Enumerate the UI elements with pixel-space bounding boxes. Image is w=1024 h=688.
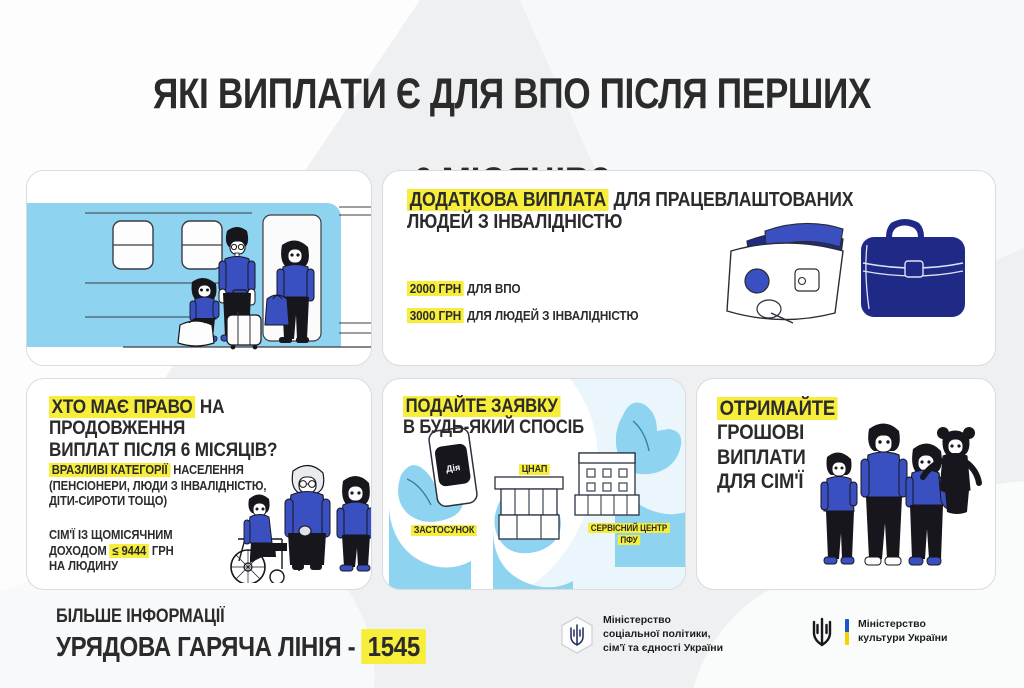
apply-option-label-app: ЗАСТОСУНОК bbox=[411, 525, 477, 538]
receive-heading: ОТРИМАЙТЕ ГРОШОВІ ВИПЛАТИ ДЛЯ СІМ'Ї bbox=[717, 397, 893, 494]
apply-option-label-pfu: СЕРВІСНИЙ ЦЕНТР ПФУ bbox=[588, 522, 670, 546]
duffel-bag bbox=[178, 319, 214, 346]
vulnerable-categories-highlight: ВРАЗЛИВІ КАТЕГОРІЇ bbox=[49, 463, 170, 477]
page-title-line1: ЯКІ ВИПЛАТИ Є ДЛЯ ВПО ПІСЛЯ ПЕРШИХ bbox=[92, 72, 932, 116]
trident-hexagon-icon bbox=[560, 616, 594, 654]
wallet-icon bbox=[727, 223, 843, 323]
footer-hotline-number: 1545 bbox=[362, 629, 426, 664]
flag-divider-icon bbox=[845, 619, 849, 645]
amount-row-disability: 3000 ГРН ДЛЯ ЛЮДЕЙ З ІНВАЛІДНІСТЮ bbox=[407, 308, 638, 324]
mku-line1: Міністерство bbox=[858, 618, 947, 632]
card-train-illustration bbox=[26, 170, 372, 366]
footer-more-info: БІЛЬШЕ ІНФОРМАЦІЇ bbox=[56, 606, 426, 628]
amount-label-disability: ДЛЯ ЛЮДЕЙ З ІНВАЛІДНІСТЮ bbox=[464, 308, 639, 323]
amount-value-disability: 3000 ГРН bbox=[407, 308, 464, 323]
logo-ministry-culture-text: Міністерство культури України bbox=[858, 618, 947, 646]
wallet-briefcase-illustration bbox=[713, 199, 973, 359]
card-apply: Дія bbox=[382, 378, 686, 590]
income-threshold-pre: ДОХОДОМ bbox=[49, 544, 110, 558]
msp-line1: Міністерство bbox=[603, 614, 723, 628]
msp-line3: сім'ї та єдності України bbox=[603, 642, 723, 656]
footer-hotline-line: УРЯДОВА ГАРЯЧА ЛІНІЯ - 1545 bbox=[56, 631, 426, 663]
card-extra-payment: ДОДАТКОВА ВИПЛАТА ДЛЯ ПРАЦЕВЛАШТОВАНИХ Л… bbox=[382, 170, 996, 366]
amount-value-vpo: 2000 ГРН bbox=[407, 281, 464, 296]
footer-hotline-label: УРЯДОВА ГАРЯЧА ЛІНІЯ - bbox=[56, 631, 362, 662]
logo-ministry-culture: Міністерство культури України bbox=[808, 616, 947, 648]
briefcase-icon bbox=[861, 219, 965, 317]
receive-heading-highlight: ОТРИМАЙТЕ bbox=[717, 397, 838, 420]
figure-wheelchair-user bbox=[231, 495, 287, 584]
trident-icon bbox=[808, 616, 836, 648]
figure-elderly-woman bbox=[285, 465, 330, 571]
amount-row-vpo: 2000 ГРН ДЛЯ ВПО bbox=[407, 281, 638, 297]
train-family-illustration bbox=[27, 171, 372, 366]
card-receive-payments: ОТРИМАЙТЕ ГРОШОВІ ВИПЛАТИ ДЛЯ СІМ'Ї bbox=[696, 378, 996, 590]
extra-payment-amounts: 2000 ГРН ДЛЯ ВПО 3000 ГРН ДЛЯ ЛЮДЕЙ З ІН… bbox=[407, 281, 638, 336]
infographic-canvas: ЯКІ ВИПЛАТИ Є ДЛЯ ВПО ПІСЛЯ ПЕРШИХ 6 МІС… bbox=[0, 0, 1024, 688]
receive-heading-line2: ГРОШОВІ bbox=[717, 421, 893, 445]
receive-heading-line3: ВИПЛАТИ bbox=[717, 446, 893, 470]
apply-heading-highlight: ПОДАЙТЕ ЗАЯВКУ bbox=[403, 396, 560, 417]
receive-heading-line4: ДЛЯ СІМ'Ї bbox=[717, 470, 893, 494]
msp-line2: соціальної політики, bbox=[603, 628, 723, 642]
apply-option-label-cnap: ЦНАП bbox=[519, 464, 550, 477]
footer-hotline: БІЛЬШЕ ІНФОРМАЦІЇ УРЯДОВА ГАРЯЧА ЛІНІЯ -… bbox=[56, 606, 486, 663]
diia-app-label: Дія bbox=[445, 462, 460, 474]
apply-heading-line2: В БУДЬ-ЯКИЙ СПОСІБ bbox=[403, 418, 667, 439]
extra-payment-heading-highlight: ДОДАТКОВА ВИПЛАТА bbox=[407, 189, 609, 211]
logo-ministry-social-policy: Міністерство соціальної політики, сім'ї … bbox=[560, 614, 723, 656]
apply-heading: ПОДАЙТЕ ЗАЯВКУ В БУДЬ-ЯКИЙ СПОСІБ bbox=[403, 397, 667, 439]
income-threshold-value: ≤ 9444 bbox=[110, 544, 149, 558]
card-who-qualifies: ХТО МАЄ ПРАВО НА ПРОДОВЖЕННЯ ВИПЛАТ ПІСЛ… bbox=[26, 378, 372, 590]
amount-label-vpo: ДЛЯ ВПО bbox=[464, 281, 521, 296]
mku-line2: культури України bbox=[858, 632, 947, 646]
vulnerable-people-illustration bbox=[193, 443, 372, 583]
figure-young-woman bbox=[337, 476, 372, 571]
logo-ministry-social-policy-text: Міністерство соціальної політики, сім'ї … bbox=[603, 614, 723, 656]
who-qualifies-heading-highlight: ХТО МАЄ ПРАВО bbox=[49, 396, 195, 418]
hand-holding-phone: Дія bbox=[389, 427, 478, 590]
income-threshold-unit: ГРН bbox=[149, 544, 174, 558]
